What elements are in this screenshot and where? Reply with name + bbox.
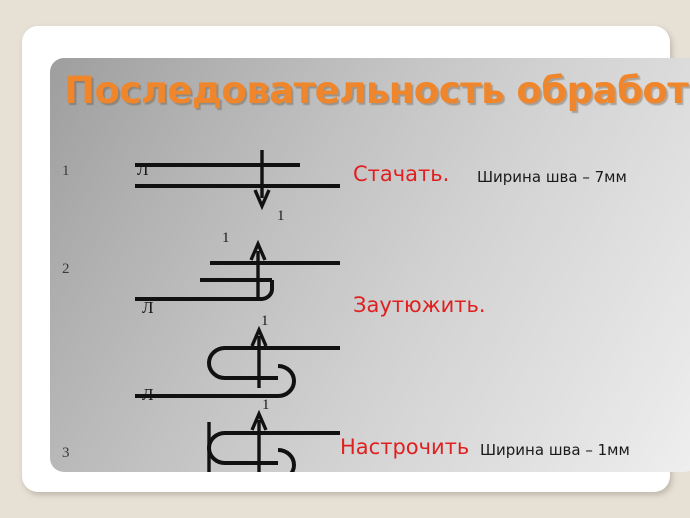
seam-diagrams	[50, 58, 690, 472]
slide-canvas: Последовательность обработки 1 2 3 Л Л Л…	[0, 0, 690, 518]
diagram-step-1	[135, 150, 340, 206]
diagram-step-3	[135, 330, 340, 396]
content-panel: Последовательность обработки 1 2 3 Л Л Л…	[50, 58, 690, 472]
diagram-step-4	[135, 414, 340, 472]
diagram-step-2	[135, 244, 340, 299]
slide-card: Последовательность обработки 1 2 3 Л Л Л…	[22, 26, 670, 492]
